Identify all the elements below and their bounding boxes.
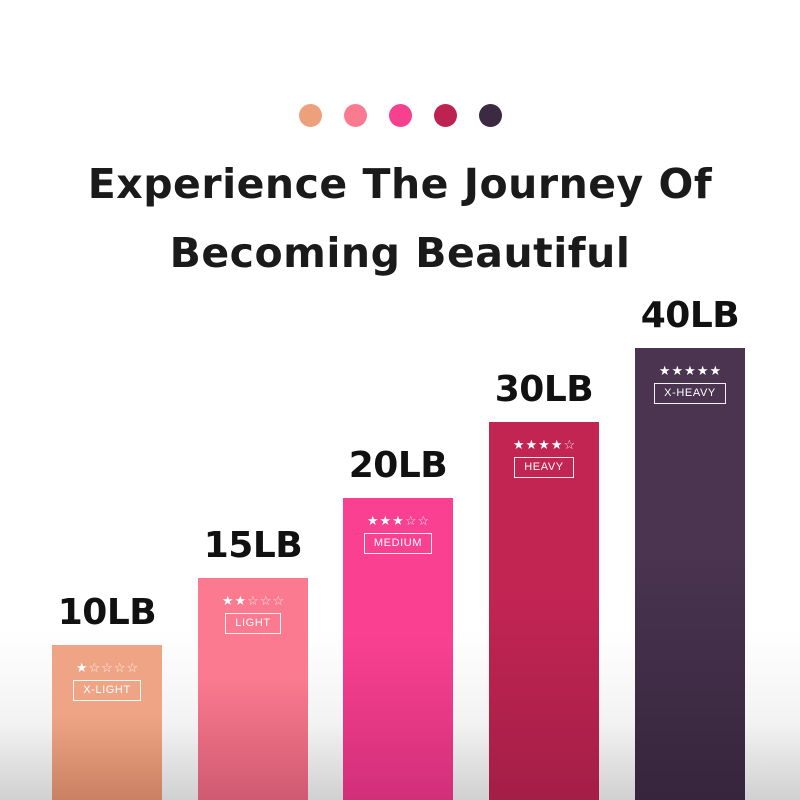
bar-weight-label: 20LB bbox=[328, 445, 468, 486]
bar-30lb[interactable]: ★★★★☆HEAVY bbox=[489, 422, 599, 800]
star-filled-icon: ★ bbox=[392, 514, 404, 527]
star-filled-icon: ★ bbox=[697, 364, 709, 377]
dot-heavy bbox=[434, 104, 457, 127]
bar-level-label: LIGHT bbox=[225, 613, 280, 634]
star-filled-icon: ★ bbox=[709, 364, 721, 377]
bar-weight-label: 30LB bbox=[474, 369, 614, 410]
dot-x-light bbox=[299, 104, 322, 127]
bar-badge: ★★★☆☆MEDIUM bbox=[343, 514, 453, 554]
bar-weight-label: 40LB bbox=[620, 295, 760, 336]
page-title-line-2: Becoming Beautiful bbox=[0, 219, 800, 288]
star-rating: ★★★★★ bbox=[659, 364, 721, 377]
bar-weight-label: 15LB bbox=[183, 525, 323, 566]
star-filled-icon: ★ bbox=[551, 438, 563, 451]
star-filled-icon: ★ bbox=[538, 438, 550, 451]
bar-level-label: MEDIUM bbox=[364, 533, 432, 554]
star-filled-icon: ★ bbox=[513, 438, 525, 451]
bar-badge: ★★★★☆HEAVY bbox=[489, 438, 599, 478]
bar-40lb[interactable]: ★★★★★X-HEAVY bbox=[635, 348, 745, 800]
star-empty-icon: ☆ bbox=[260, 594, 272, 607]
bar-level-label: X-LIGHT bbox=[73, 680, 141, 701]
star-empty-icon: ☆ bbox=[272, 594, 284, 607]
star-empty-icon: ☆ bbox=[563, 438, 575, 451]
star-filled-icon: ★ bbox=[222, 594, 234, 607]
star-empty-icon: ☆ bbox=[114, 661, 126, 674]
star-filled-icon: ★ bbox=[380, 514, 392, 527]
bar-level-label: HEAVY bbox=[514, 457, 573, 478]
color-swatch-row bbox=[0, 104, 800, 127]
star-filled-icon: ★ bbox=[76, 661, 88, 674]
star-empty-icon: ☆ bbox=[405, 514, 417, 527]
page-title: Experience The Journey Of Becoming Beaut… bbox=[0, 150, 800, 288]
star-empty-icon: ☆ bbox=[417, 514, 429, 527]
star-filled-icon: ★ bbox=[235, 594, 247, 607]
bar-weight-label: 10LB bbox=[37, 592, 177, 633]
star-empty-icon: ☆ bbox=[126, 661, 138, 674]
infographic-stage: Experience The Journey Of Becoming Beaut… bbox=[0, 0, 800, 800]
dot-medium bbox=[389, 104, 412, 127]
bar-badge: ★★★★★X-HEAVY bbox=[635, 364, 745, 404]
star-rating: ★★★★☆ bbox=[513, 438, 575, 451]
dot-light bbox=[344, 104, 367, 127]
star-empty-icon: ☆ bbox=[101, 661, 113, 674]
bar-20lb[interactable]: ★★★☆☆MEDIUM bbox=[343, 498, 453, 800]
bar-fill bbox=[489, 422, 599, 800]
star-empty-icon: ☆ bbox=[247, 594, 259, 607]
star-filled-icon: ★ bbox=[672, 364, 684, 377]
star-filled-icon: ★ bbox=[659, 364, 671, 377]
bar-level-label: X-HEAVY bbox=[654, 383, 726, 404]
star-rating: ★★☆☆☆ bbox=[222, 594, 284, 607]
bar-15lb[interactable]: ★★☆☆☆LIGHT bbox=[198, 578, 308, 800]
bar-badge: ★☆☆☆☆X-LIGHT bbox=[52, 661, 162, 701]
star-filled-icon: ★ bbox=[367, 514, 379, 527]
star-filled-icon: ★ bbox=[684, 364, 696, 377]
star-rating: ★☆☆☆☆ bbox=[76, 661, 138, 674]
bar-badge: ★★☆☆☆LIGHT bbox=[198, 594, 308, 634]
dot-x-heavy bbox=[479, 104, 502, 127]
star-rating: ★★★☆☆ bbox=[367, 514, 429, 527]
star-filled-icon: ★ bbox=[526, 438, 538, 451]
bar-10lb[interactable]: ★☆☆☆☆X-LIGHT bbox=[52, 645, 162, 800]
page-title-line-1: Experience The Journey Of bbox=[0, 150, 800, 219]
star-empty-icon: ☆ bbox=[89, 661, 101, 674]
bar-fill bbox=[635, 348, 745, 800]
